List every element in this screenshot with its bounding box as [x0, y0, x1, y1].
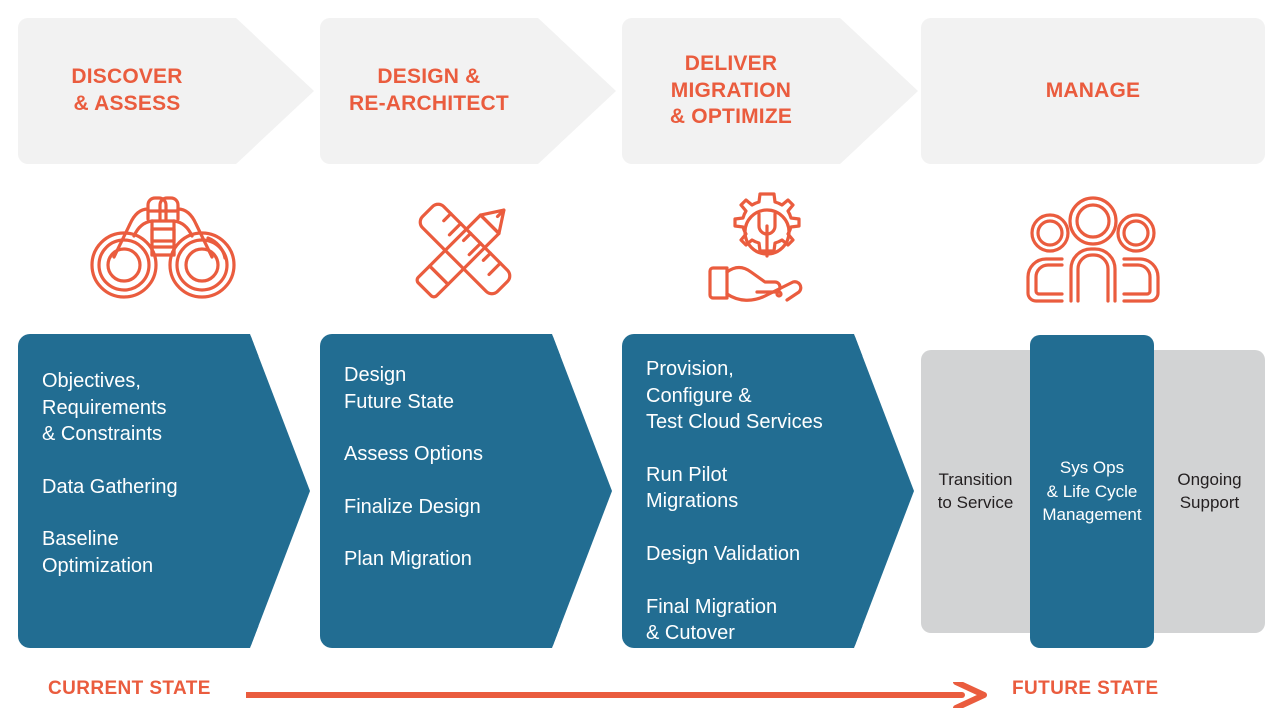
chevron-tip-shape [552, 334, 612, 648]
phase-header-manage: MANAGE [921, 18, 1265, 164]
phase-header-deliver-migration-optimize: DELIVER MIGRATION & OPTIMIZE [622, 18, 840, 164]
list-item: Plan Migration [344, 546, 552, 573]
phase-items-discover-assess: Objectives, Requirements & Constraints D… [42, 368, 250, 580]
ruler-pencil-icon [320, 188, 610, 310]
list-item: Finalize Design [344, 494, 552, 521]
list-item: Objectives, Requirements & Constraints [42, 368, 250, 448]
process-flow-diagram: DISCOVER & ASSESS DESIGN & RE-ARCHITECT … [0, 0, 1280, 720]
right-arrow-icon [246, 682, 998, 708]
phase-title-manage: MANAGE [1046, 78, 1141, 105]
list-item: Assess Options [344, 441, 552, 468]
list-item: Baseline Optimization [42, 526, 250, 579]
chevron-tip-shape [236, 18, 314, 164]
phase-items-deliver-migration-optimize: Provision, Configure & Test Cloud Servic… [646, 356, 854, 647]
manage-item-transition-to-service: Transition to Service [921, 350, 1030, 633]
chevron-tip-shape [250, 334, 310, 648]
chevron-tip-shape [840, 18, 918, 164]
phase-title-design-rearchitect: DESIGN & RE-ARCHITECT [349, 64, 509, 118]
hand-gear-wrench-icon [622, 188, 912, 310]
phase-header-design-rearchitect: DESIGN & RE-ARCHITECT [320, 18, 538, 164]
list-item: Provision, Configure & Test Cloud Servic… [646, 356, 854, 436]
phase-body-design-rearchitect: Design Future State Assess Options Final… [320, 334, 552, 648]
binoculars-icon [18, 188, 308, 310]
chevron-tip-shape [854, 334, 914, 648]
phase-items-design-rearchitect: Design Future State Assess Options Final… [344, 362, 552, 573]
manage-item-sys-ops-life-cycle-management: Sys Ops & Life Cycle Management [1030, 335, 1154, 648]
phase-header-discover-assess: DISCOVER & ASSESS [18, 18, 236, 164]
chevron-tip-shape [538, 18, 616, 164]
people-group-icon [921, 188, 1265, 310]
list-item: Run Pilot Migrations [646, 462, 854, 515]
list-item: Design Future State [344, 362, 552, 415]
list-item: Final Migration & Cutover [646, 594, 854, 647]
phase-body-deliver-migration-optimize: Provision, Configure & Test Cloud Servic… [622, 334, 854, 648]
manage-item-ongoing-support: Ongoing Support [1154, 350, 1265, 633]
list-item: Design Validation [646, 541, 854, 568]
phase-body-discover-assess: Objectives, Requirements & Constraints D… [18, 334, 250, 648]
phase-title-discover-assess: DISCOVER & ASSESS [71, 64, 182, 118]
future-state-label: FUTURE STATE [1012, 678, 1159, 700]
list-item: Data Gathering [42, 474, 250, 501]
phase-title-deliver-migration-optimize: DELIVER MIGRATION & OPTIMIZE [670, 51, 792, 132]
current-state-label: CURRENT STATE [48, 678, 211, 700]
